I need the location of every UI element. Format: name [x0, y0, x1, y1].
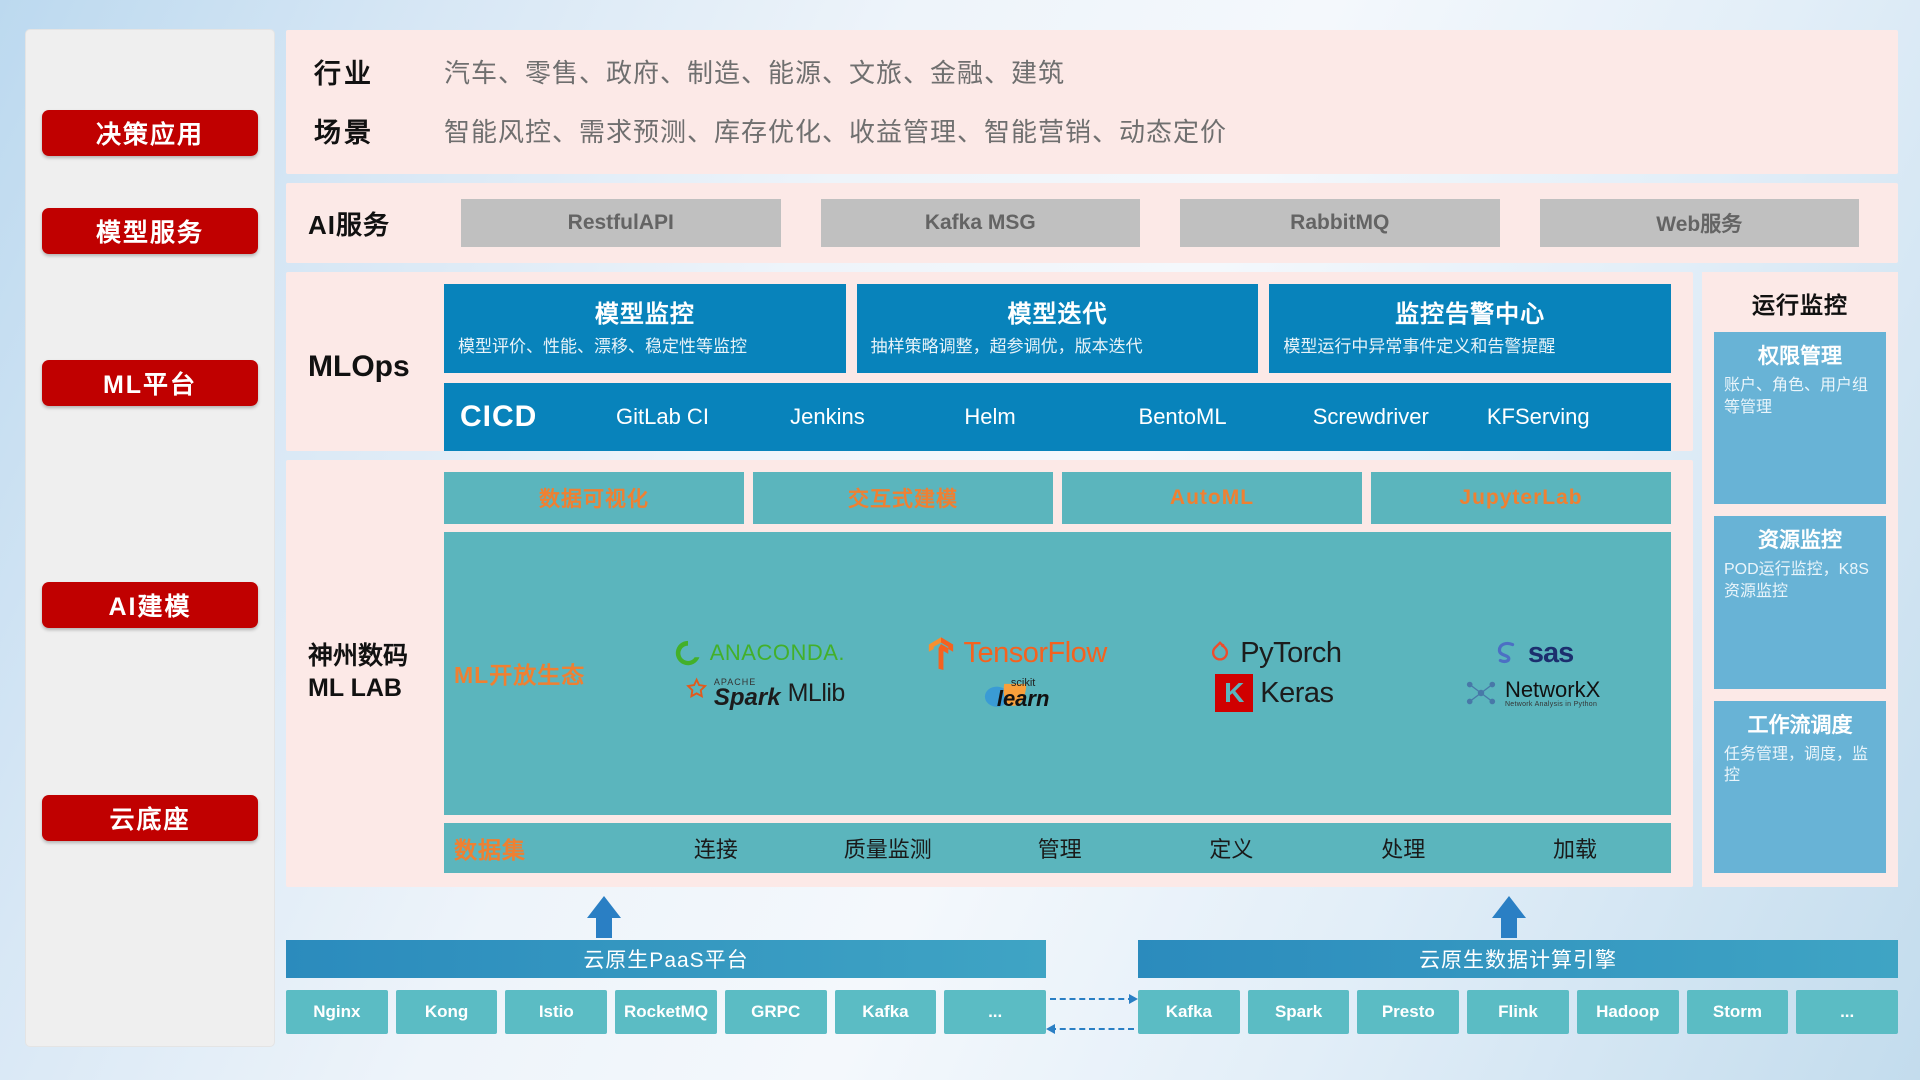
- dataset-item-process[interactable]: 处理: [1317, 832, 1489, 864]
- dataset-item-load[interactable]: 加载: [1489, 832, 1661, 864]
- cloud-columns: 云原生PaaS平台 Nginx Kong Istio RocketMQ GRPC…: [286, 940, 1898, 1034]
- industry-values: 汽车、零售、政府、制造、能源、文旅、金融、建筑: [444, 53, 1065, 90]
- scenario-values: 智能风控、需求预测、库存优化、收益管理、智能营销、动态定价: [444, 112, 1227, 149]
- cloud-paas-column: 云原生PaaS平台 Nginx Kong Istio RocketMQ GRPC…: [286, 940, 1046, 1034]
- card-desc: 任务管理，调度，监控: [1724, 744, 1876, 787]
- dataset-item-connect[interactable]: 连接: [630, 832, 802, 864]
- ml-ecosystem-row: ML开放生态 ANACONDA.: [444, 532, 1671, 815]
- cloud-chip-grpc[interactable]: GRPC: [725, 990, 827, 1034]
- spark-star-icon: [673, 677, 707, 709]
- card-desc: 抽样策略调整，超参调优，版本迭代: [871, 336, 1245, 359]
- cloud-chip-kafka2[interactable]: Kafka: [1138, 990, 1240, 1034]
- card-desc: 账户、角色、用户组等管理: [1724, 375, 1876, 418]
- rail-badge-label: AI建模: [108, 587, 191, 623]
- cicd-item-jenkins[interactable]: Jenkins: [784, 405, 958, 428]
- cloud-data-engine-header: 云原生数据计算引擎: [1138, 940, 1898, 978]
- dashed-line-right: [1050, 998, 1134, 1000]
- card-title: 模型监控: [458, 294, 832, 329]
- cloud-chip-hadoop[interactable]: Hadoop: [1577, 990, 1679, 1034]
- monitor-card-workflow[interactable]: 工作流调度 任务管理，调度，监控: [1714, 701, 1886, 873]
- tensorflow-mark-icon: [926, 636, 956, 670]
- ml-ecosystem-logos: ANACONDA. TensorFlow: [630, 634, 1661, 712]
- cicd-item-kfserving[interactable]: KFServing: [1481, 405, 1655, 428]
- networkx-logo: NetworkX Network Analysis in Python: [1464, 677, 1600, 709]
- pytorch-wordmark: PyTorch: [1240, 637, 1341, 670]
- pytorch-mark-icon: [1207, 638, 1233, 668]
- cloud-paas-chips: Nginx Kong Istio RocketMQ GRPC Kafka ...: [286, 990, 1046, 1034]
- ml-lab-label-line1: 神州数码: [308, 640, 408, 673]
- rail-badge-label: 决策应用: [96, 115, 204, 151]
- monitor-card-resource[interactable]: 资源监控 POD运行监控，K8S资源监控: [1714, 516, 1886, 688]
- cicd-item-screwdriver[interactable]: Screwdriver: [1307, 405, 1481, 428]
- dataset-label: 数据集: [454, 831, 630, 865]
- runtime-monitor-title: 运行监控: [1714, 286, 1886, 320]
- cicd-item-bentoml[interactable]: BentoML: [1133, 405, 1307, 428]
- tool-chip-jupyterlab[interactable]: JupyterLab: [1371, 472, 1671, 524]
- platform-region: MLOps 模型监控 模型评价、性能、漂移、稳定性等监控 模型迭代 抽样策略调整…: [286, 272, 1898, 887]
- card-title: 权限管理: [1724, 340, 1876, 370]
- dashed-arrowhead-right-icon: [1129, 994, 1138, 1004]
- rail-badge-ml-platform[interactable]: ML平台: [42, 360, 258, 406]
- anaconda-mark-icon: [673, 638, 703, 668]
- arrow-stem-paas-icon: [596, 916, 612, 938]
- ai-service-label: AI服务: [308, 205, 444, 242]
- cloud-data-engine-chips: Kafka Spark Presto Flink Hadoop Storm ..…: [1138, 990, 1898, 1034]
- pytorch-logo: PyTorch: [1207, 637, 1341, 670]
- ml-lab-band: 神州数码 ML LAB 数据可视化 交互式建模 AutoML JupyterLa…: [286, 460, 1693, 887]
- card-desc: 模型评价、性能、漂移、稳定性等监控: [458, 336, 832, 359]
- keras-logo: K Keras: [1215, 674, 1333, 712]
- tool-chip-interactive-modeling[interactable]: 交互式建模: [753, 472, 1053, 524]
- ai-service-items: RestfulAPI Kafka MSG RabbitMQ Web服务: [444, 199, 1876, 247]
- arrow-up-data-engine-icon: [1492, 896, 1526, 918]
- networkx-mark-icon: [1464, 677, 1498, 709]
- rail-badge-cloud-base[interactable]: 云底座: [42, 795, 258, 841]
- keras-mark-icon: K: [1215, 674, 1253, 712]
- cloud-chip-kong[interactable]: Kong: [396, 990, 498, 1034]
- spark-wordmark: Spark: [714, 687, 781, 709]
- decision-application-band: 行业 汽车、零售、政府、制造、能源、文旅、金融、建筑 场景 智能风控、需求预测、…: [286, 30, 1898, 174]
- layer-stack: 行业 汽车、零售、政府、制造、能源、文旅、金融、建筑 场景 智能风控、需求预测、…: [286, 30, 1898, 1046]
- ml-lab-label-line2: ML LAB: [308, 672, 408, 705]
- architecture-diagram: 决策应用 模型服务 ML平台 AI建模 云底座 行业 汽车、零售、政府、制造、能…: [0, 0, 1920, 1080]
- cicd-items: GitLab CI Jenkins Helm BentoML Screwdriv…: [610, 405, 1655, 428]
- cicd-item-gitlab-ci[interactable]: GitLab CI: [610, 405, 784, 428]
- sas-wordmark: sas: [1528, 637, 1573, 670]
- rail-badge-decision[interactable]: 决策应用: [42, 110, 258, 156]
- cicd-item-helm[interactable]: Helm: [958, 405, 1132, 428]
- mllib-wordmark: MLlib: [788, 679, 845, 708]
- service-chip-rabbitmq[interactable]: RabbitMQ: [1180, 199, 1500, 247]
- service-chip-kafka-msg[interactable]: Kafka MSG: [821, 199, 1141, 247]
- learn-wordmark: learn: [997, 689, 1050, 709]
- cloud-data-engine-column: 云原生数据计算引擎 Kafka Spark Presto Flink Hadoo…: [1138, 940, 1898, 1034]
- cloud-chip-storm[interactable]: Storm: [1687, 990, 1789, 1034]
- cloud-chip-presto[interactable]: Presto: [1357, 990, 1459, 1034]
- scenario-label: 场景: [314, 111, 444, 150]
- dataset-item-manage[interactable]: 管理: [974, 832, 1146, 864]
- ml-tool-row: 数据可视化 交互式建模 AutoML JupyterLab: [444, 472, 1671, 524]
- rail-badge-model-service[interactable]: 模型服务: [42, 208, 258, 254]
- cicd-bar: CICD GitLab CI Jenkins Helm BentoML Scre…: [444, 383, 1671, 451]
- mlops-card-model-iteration[interactable]: 模型迭代 抽样策略调整，超参调优，版本迭代: [857, 284, 1259, 373]
- cloud-chip-istio[interactable]: Istio: [505, 990, 607, 1034]
- cloud-base-region: 云原生PaaS平台 Nginx Kong Istio RocketMQ GRPC…: [286, 896, 1898, 1046]
- card-desc: POD运行监控，K8S资源监控: [1724, 559, 1876, 602]
- cloud-chip-spark[interactable]: Spark: [1248, 990, 1350, 1034]
- mlops-label: MLOps: [308, 284, 444, 451]
- dataset-items: 连接 质量监测 管理 定义 处理 加载: [630, 832, 1661, 864]
- cloud-chip-more[interactable]: ...: [944, 990, 1046, 1034]
- scikit-learn-logo: scikit learn: [984, 676, 1050, 710]
- monitor-card-permission[interactable]: 权限管理 账户、角色、用户组等管理: [1714, 332, 1886, 504]
- rail-badge-ai-modeling[interactable]: AI建模: [42, 582, 258, 628]
- rail-badge-label: 云底座: [109, 800, 190, 836]
- rail-badge-label: 模型服务: [96, 213, 204, 249]
- cicd-label: CICD: [460, 400, 610, 434]
- dashed-line-left: [1050, 1028, 1134, 1030]
- card-title: 模型迭代: [871, 294, 1245, 329]
- card-title: 工作流调度: [1724, 709, 1876, 739]
- industry-row: 行业 汽车、零售、政府、制造、能源、文旅、金融、建筑: [314, 52, 1870, 91]
- card-desc: 模型运行中异常事件定义和告警提醒: [1283, 336, 1657, 359]
- cloud-chip-flink[interactable]: Flink: [1467, 990, 1569, 1034]
- dataset-item-define[interactable]: 定义: [1145, 832, 1317, 864]
- ml-ecosystem-label: ML开放生态: [454, 656, 630, 690]
- ml-lab-label: 神州数码 ML LAB: [308, 472, 444, 873]
- rail-badge-label: ML平台: [103, 365, 197, 401]
- tool-chip-automl[interactable]: AutoML: [1062, 472, 1362, 524]
- scenario-row: 场景 智能风控、需求预测、库存优化、收益管理、智能营销、动态定价: [314, 111, 1870, 150]
- mlops-content: 模型监控 模型评价、性能、漂移、稳定性等监控 模型迭代 抽样策略调整，超参调优，…: [444, 284, 1671, 451]
- cloud-chip-nginx[interactable]: Nginx: [286, 990, 388, 1034]
- tool-chip-data-visualization[interactable]: 数据可视化: [444, 472, 744, 524]
- cloud-chip-more2[interactable]: ...: [1796, 990, 1898, 1034]
- mlops-band: MLOps 模型监控 模型评价、性能、漂移、稳定性等监控 模型迭代 抽样策略调整…: [286, 272, 1693, 451]
- mlops-card-alert-center[interactable]: 监控告警中心 模型运行中异常事件定义和告警提醒: [1269, 284, 1671, 373]
- cloud-paas-header: 云原生PaaS平台: [286, 940, 1046, 978]
- arrow-stem-data-engine-icon: [1501, 916, 1517, 938]
- cloud-link-arrows: [1046, 940, 1138, 1034]
- service-chip-web[interactable]: Web服务: [1540, 199, 1860, 247]
- mlops-card-row: 模型监控 模型评价、性能、漂移、稳定性等监控 模型迭代 抽样策略调整，超参调优，…: [444, 284, 1671, 373]
- runtime-monitor-panel: 运行监控 权限管理 账户、角色、用户组等管理 资源监控 POD运行监控，K8S资…: [1702, 272, 1898, 887]
- ai-service-band: AI服务 RestfulAPI Kafka MSG RabbitMQ Web服务: [286, 183, 1898, 263]
- tensorflow-logo: TensorFlow: [926, 636, 1106, 670]
- cloud-chip-rocketmq[interactable]: RocketMQ: [615, 990, 717, 1034]
- service-chip-restfulapi[interactable]: RestfulAPI: [461, 199, 781, 247]
- sas-mark-icon: [1491, 638, 1521, 668]
- anaconda-wordmark: ANACONDA.: [710, 640, 845, 666]
- ml-lab-content: 数据可视化 交互式建模 AutoML JupyterLab ML开放生态: [444, 472, 1671, 873]
- spark-mllib-logo: APACHE Spark MLlib: [673, 677, 845, 709]
- card-title: 资源监控: [1724, 524, 1876, 554]
- card-title: 监控告警中心: [1283, 294, 1657, 329]
- layer-rail: 决策应用 模型服务 ML平台 AI建模 云底座: [26, 30, 274, 1046]
- dataset-row: 数据集 连接 质量监测 管理 定义 处理 加载: [444, 823, 1671, 873]
- dashed-arrowhead-left-icon: [1046, 1024, 1055, 1034]
- industry-label: 行业: [314, 52, 444, 91]
- dataset-item-quality[interactable]: 质量监测: [802, 832, 974, 864]
- networkx-tagline: Network Analysis in Python: [1505, 701, 1600, 708]
- arrow-up-paas-icon: [587, 896, 621, 918]
- mlops-card-model-monitoring[interactable]: 模型监控 模型评价、性能、漂移、稳定性等监控: [444, 284, 846, 373]
- networkx-wordmark: NetworkX: [1505, 679, 1600, 701]
- cloud-chip-kafka[interactable]: Kafka: [835, 990, 937, 1034]
- tensorflow-wordmark: TensorFlow: [963, 637, 1106, 670]
- sas-logo: sas: [1491, 637, 1573, 670]
- platform-main-column: MLOps 模型监控 模型评价、性能、漂移、稳定性等监控 模型迭代 抽样策略调整…: [286, 272, 1693, 887]
- anaconda-logo: ANACONDA.: [673, 638, 845, 668]
- keras-wordmark: Keras: [1260, 677, 1333, 710]
